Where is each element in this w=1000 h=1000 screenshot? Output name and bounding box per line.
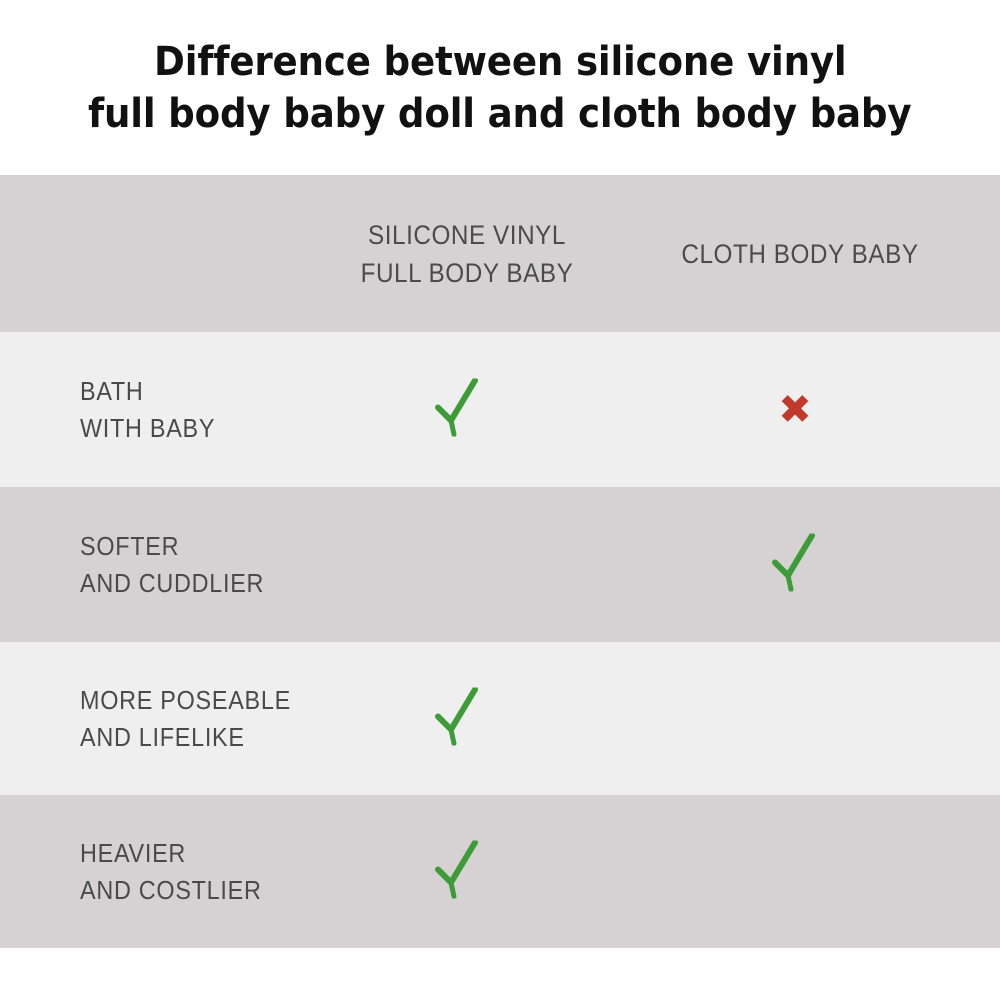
cell-silicone-heavier — [398, 840, 518, 903]
column-header-silicone-vinyl-full-body-baby: SILICONE VINYL FULL BODY BABY — [302, 216, 632, 292]
cell-silicone-poseable — [398, 687, 518, 750]
page-title-line-1: Difference between silicone vinyl — [154, 36, 846, 88]
row-label-line-1: SOFTER — [80, 528, 264, 565]
page-title-line-2: full body baby doll and cloth body baby — [88, 88, 911, 140]
row-label-more-poseable-and-lifelike: MORE POSEABLE AND LIFELIKE — [80, 682, 314, 756]
column-header-silicone-line-1: SILICONE VINYL — [319, 216, 616, 254]
check-mark-icon — [435, 840, 481, 898]
row-label-line-2: AND COSTLIER — [80, 872, 262, 909]
row-label-softer-and-cuddlier: SOFTER AND CUDDLIER — [80, 528, 285, 602]
row-label-heavier-and-costlier: HEAVIER AND COSTLIER — [80, 835, 282, 909]
row-label-line-1: MORE POSEABLE — [80, 682, 291, 719]
row-label-line-2: WITH BABY — [80, 410, 215, 447]
cross-mark-icon: ✖ — [778, 390, 812, 430]
check-mark-icon — [435, 378, 481, 436]
column-header-cloth-line-1: CLOTH BODY BABY — [652, 235, 949, 273]
table-row: MORE POSEABLE AND LIFELIKE — [0, 642, 1000, 795]
row-label-line-1: BATH — [80, 373, 215, 410]
row-label-line-2: AND CUDDLIER — [80, 565, 264, 602]
cell-cloth-bath: ✖ — [735, 390, 855, 430]
page-title: Difference between silicone vinyl full b… — [0, 0, 1000, 175]
table-row: BATH WITH BABY ✖ — [0, 332, 1000, 487]
cell-cloth-softer — [735, 533, 855, 596]
table-row: SOFTER AND CUDDLIER — [0, 487, 1000, 642]
row-label-line-2: AND LIFELIKE — [80, 719, 291, 756]
table-row: HEAVIER AND COSTLIER — [0, 795, 1000, 948]
column-header-silicone-line-2: FULL BODY BABY — [319, 254, 616, 292]
check-mark-icon — [435, 687, 481, 745]
cell-silicone-bath — [398, 378, 518, 441]
row-label-bath-with-baby: BATH WITH BABY — [80, 373, 230, 447]
column-header-cloth-body-baby: CLOTH BODY BABY — [635, 235, 965, 273]
comparison-table: SILICONE VINYL FULL BODY BABY CLOTH BODY… — [0, 175, 1000, 948]
check-mark-icon — [772, 533, 818, 591]
table-header-row: SILICONE VINYL FULL BODY BABY CLOTH BODY… — [0, 175, 1000, 332]
row-label-line-1: HEAVIER — [80, 835, 262, 872]
